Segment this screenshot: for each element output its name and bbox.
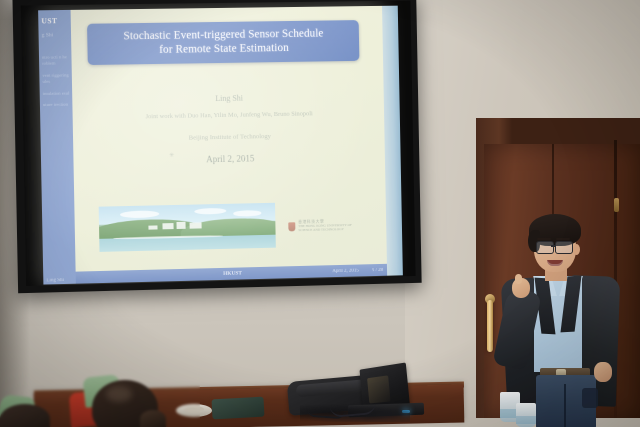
slide-sidebar: UST g Shi ntro ucti n he roblem vent rig… (38, 10, 76, 285)
slide-author: Ling Shi (72, 91, 384, 105)
door-lock-icon (614, 198, 619, 212)
sidebar-title: UST (41, 16, 57, 25)
sidebar-item-3[interactable]: uture irection (43, 102, 72, 109)
glasses-bridge (551, 245, 556, 247)
slide-date: April 2, 2015 (73, 151, 385, 167)
sidebar-item-2[interactable]: imulation esul (43, 90, 72, 97)
slide-title-block: Stochastic Event-triggered Sensor Schedu… (87, 20, 359, 65)
footer-date: April 2, 2015 (332, 268, 359, 274)
sidebar-item-0[interactable]: ntro ucti n he roblem (42, 54, 71, 67)
projection-screen-surface: UST g Shi ntro ucti n he roblem vent rig… (21, 1, 416, 286)
shield-icon (288, 222, 295, 231)
eyebrow-right (556, 238, 570, 240)
photo-building (177, 221, 186, 229)
photo-cloud (233, 210, 261, 216)
slide-affiliation: Beijing Institute of Technology (73, 131, 385, 144)
sidebar-nav-list: ntro ucti n he roblem vent riggering ule… (42, 54, 72, 113)
laptop-screen-sheen (367, 375, 390, 403)
seminar-room-photo: UST g Shi ntro ucti n he roblem vent rig… (0, 0, 640, 427)
audience-head (140, 410, 166, 427)
slide-body: Stochastic Event-triggered Sensor Schedu… (71, 6, 388, 284)
university-logo-text: 香港科技大學 THE HONG KONG UNIVERSITY OF SCIEN… (298, 219, 352, 233)
glasses-lens-right (555, 241, 573, 254)
campus-panorama-image (99, 203, 276, 252)
photo-building (149, 225, 158, 230)
slide-footer-bar: HKUST April 2, 2015 1 / 28 (76, 264, 388, 284)
projection-screen-frame: UST g Shi ntro ucti n he roblem vent rig… (12, 0, 421, 293)
jeans-seam (564, 384, 566, 427)
paper-cup-band (516, 416, 536, 424)
phone-device[interactable] (212, 397, 265, 420)
ear (573, 244, 580, 255)
photo-building (189, 223, 201, 229)
audience-head-highlight (106, 386, 132, 402)
glasses-lens-left (536, 241, 554, 254)
logo-line2: SCIENCE AND TECHNOLOGY (298, 227, 352, 232)
dish-interior (184, 406, 204, 413)
presentation-slide: UST g Shi ntro ucti n he roblem vent rig… (38, 6, 387, 285)
finger (515, 274, 522, 284)
eyebrow-left (537, 238, 551, 240)
door-handle[interactable] (487, 300, 493, 352)
sidebar-subtitle: g Shi (42, 32, 54, 38)
slide-joint-work: Joint work with Duo Han, Yilin Mo, Junfe… (73, 109, 385, 122)
footer-page-number: 1 / 28 (372, 267, 383, 272)
footer-author: Ling Shi (46, 278, 64, 283)
hand-right (594, 362, 612, 382)
jeans-pocket (582, 388, 598, 408)
university-logo: 香港科技大學 THE HONG KONG UNIVERSITY OF SCIEN… (288, 219, 352, 233)
audience-head (0, 404, 50, 427)
sidebar-item-1[interactable]: vent riggering ules (42, 72, 71, 85)
photo-building (163, 223, 174, 230)
